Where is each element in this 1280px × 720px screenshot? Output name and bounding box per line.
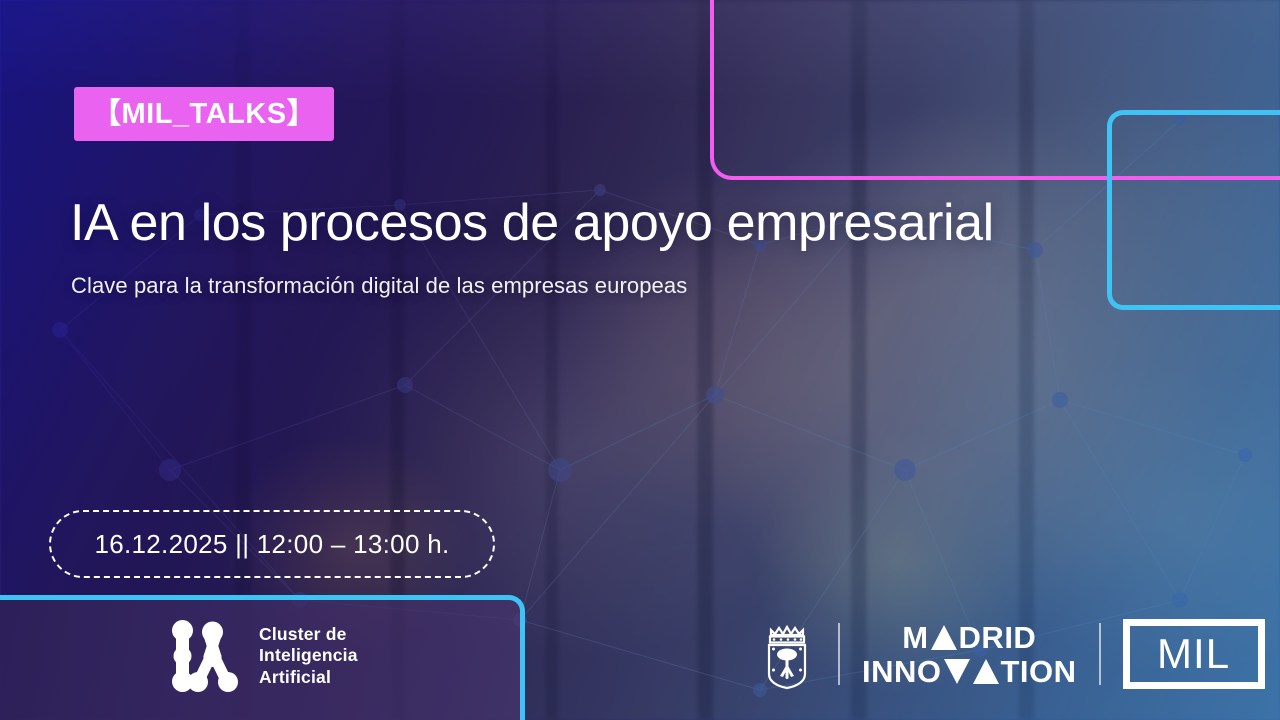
lockup-divider-left [838,623,840,685]
madrid-innovation-lockup: M DRID INNO TION MIL [762,618,1265,690]
cluster-line-2: Inteligencia [259,645,358,666]
triangle-up-icon [931,625,957,650]
event-datetime-label: 16.12.2025 || 12:00 – 13:00 h. [94,529,449,560]
mil-logo-label: MIL [1123,626,1265,682]
triangle-up-icon-2 [973,659,999,684]
promo-banner: 【MIL_TALKS】 IA en los procesos de apoyo … [0,0,1280,720]
cluster-logo-wordmark: Cluster de Inteligencia Artificial [259,624,358,688]
madrid-suffix: DRID [959,622,1037,653]
cluster-ia-logo: Cluster de Inteligencia Artificial [168,620,358,692]
madrid-word: M DRID [862,622,1077,653]
ia-nodes-mark [168,620,242,692]
mil-logo: MIL [1123,619,1265,689]
mil-talks-badge-label: 【MIL_TALKS】 [92,100,316,129]
event-datetime-pill: 16.12.2025 || 12:00 – 13:00 h. [49,510,495,578]
innovation-prefix: INNO [862,656,942,687]
madrid-coat-of-arms-icon [762,618,816,690]
mil-talks-badge: 【MIL_TALKS】 [74,87,334,141]
lockup-divider-right [1099,623,1101,685]
page-title: IA en los procesos de apoyo empresarial [70,196,994,251]
page-subtitle: Clave para la transformación digital de … [71,273,687,299]
triangle-down-icon [944,659,970,684]
innovation-word: INNO TION [862,656,1077,687]
cluster-line-3: Artificial [259,667,358,688]
madrid-innovation-wordmark: M DRID INNO TION [862,622,1077,687]
innovation-suffix: TION [1001,656,1077,687]
madrid-prefix: M [902,622,928,653]
cluster-line-1: Cluster de [259,624,358,645]
